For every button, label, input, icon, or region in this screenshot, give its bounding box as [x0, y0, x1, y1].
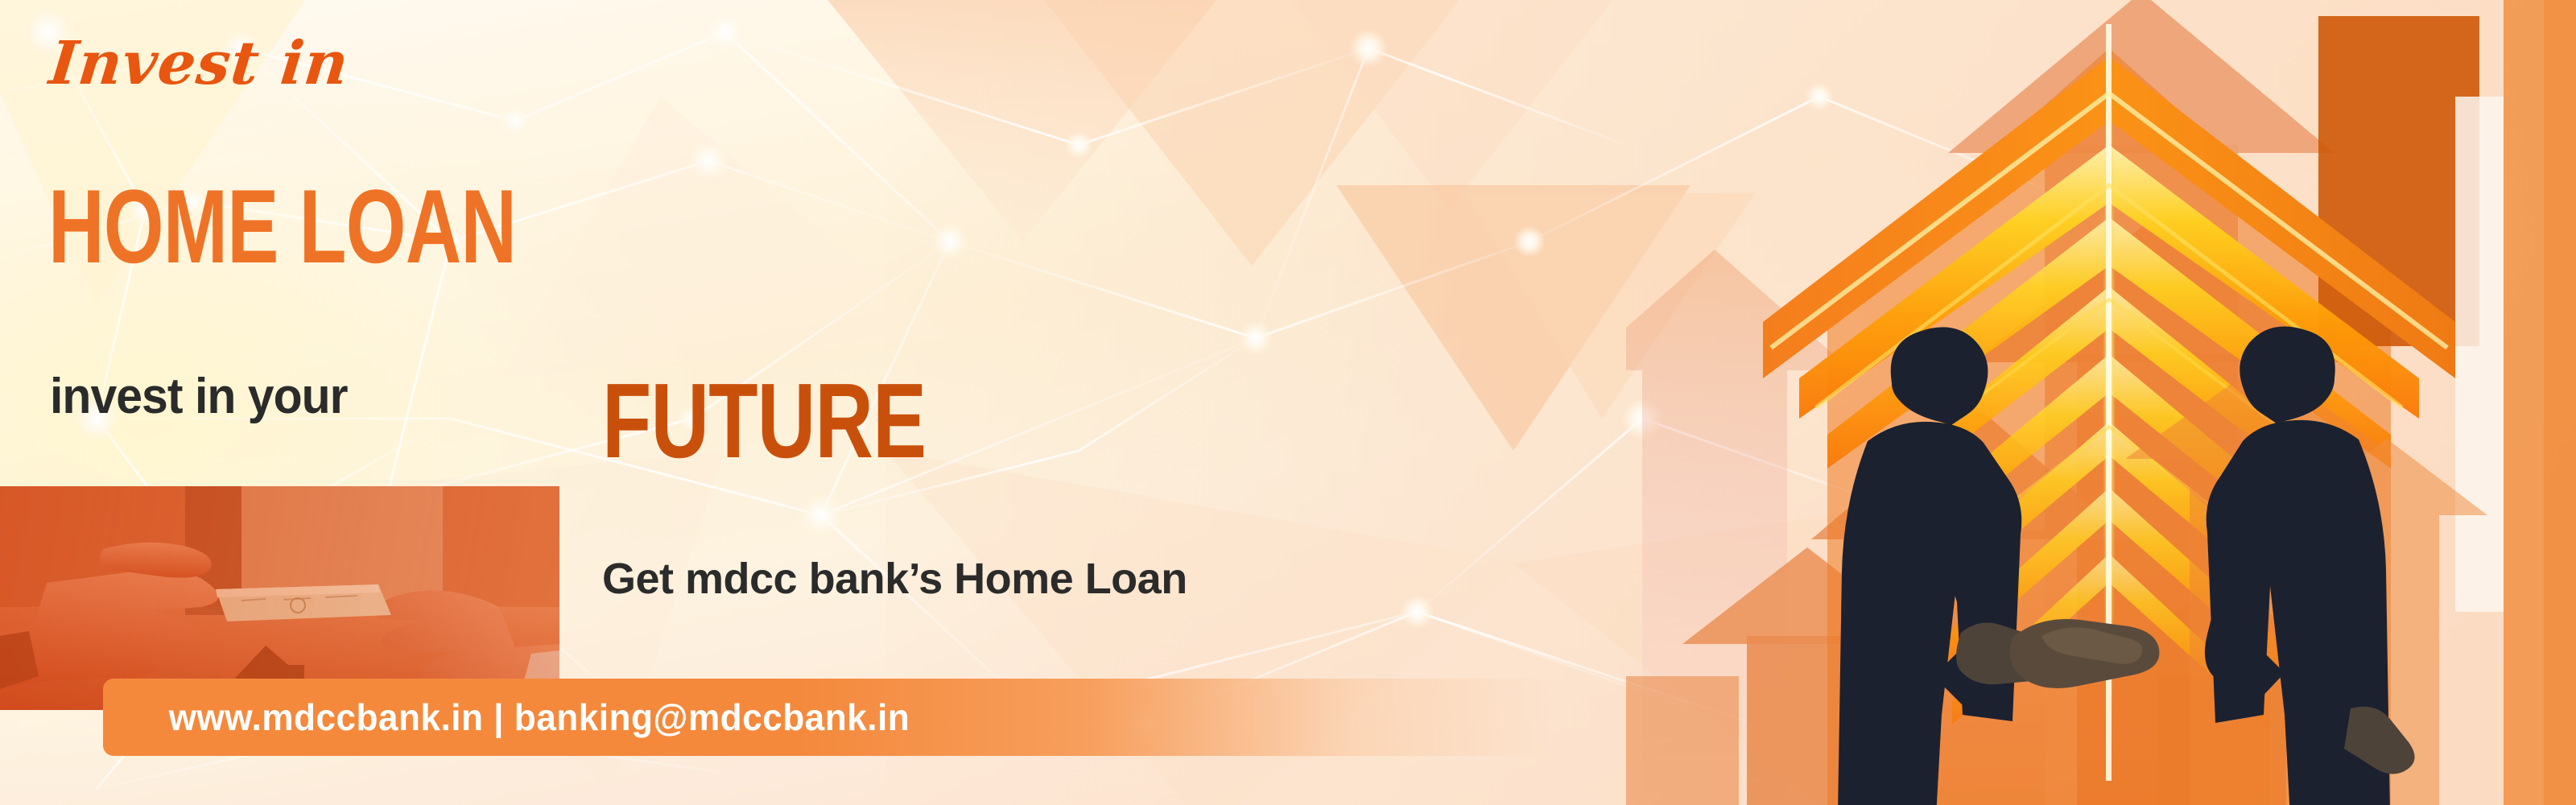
- hero-artwork: [1626, 0, 2576, 805]
- script-headline: Invest in: [47, 34, 352, 93]
- page-title: HOME LOAN: [48, 179, 516, 275]
- handover-photo: [0, 486, 559, 710]
- home-loan-banner: Invest in HOME LOAN invest in your FUTUR…: [0, 0, 2576, 805]
- subheadline-dark: invest in your: [50, 372, 348, 422]
- contact-bar-text: www.mdccbank.in | banking@mdccbank.in: [103, 696, 910, 739]
- subheadline-future: FUTURE: [602, 372, 926, 469]
- photo-orange-tint: [0, 486, 559, 710]
- contact-bar[interactable]: www.mdccbank.in | banking@mdccbank.in: [103, 679, 1552, 756]
- cta-text: Get mdcc bank’s Home Loan: [602, 557, 1187, 601]
